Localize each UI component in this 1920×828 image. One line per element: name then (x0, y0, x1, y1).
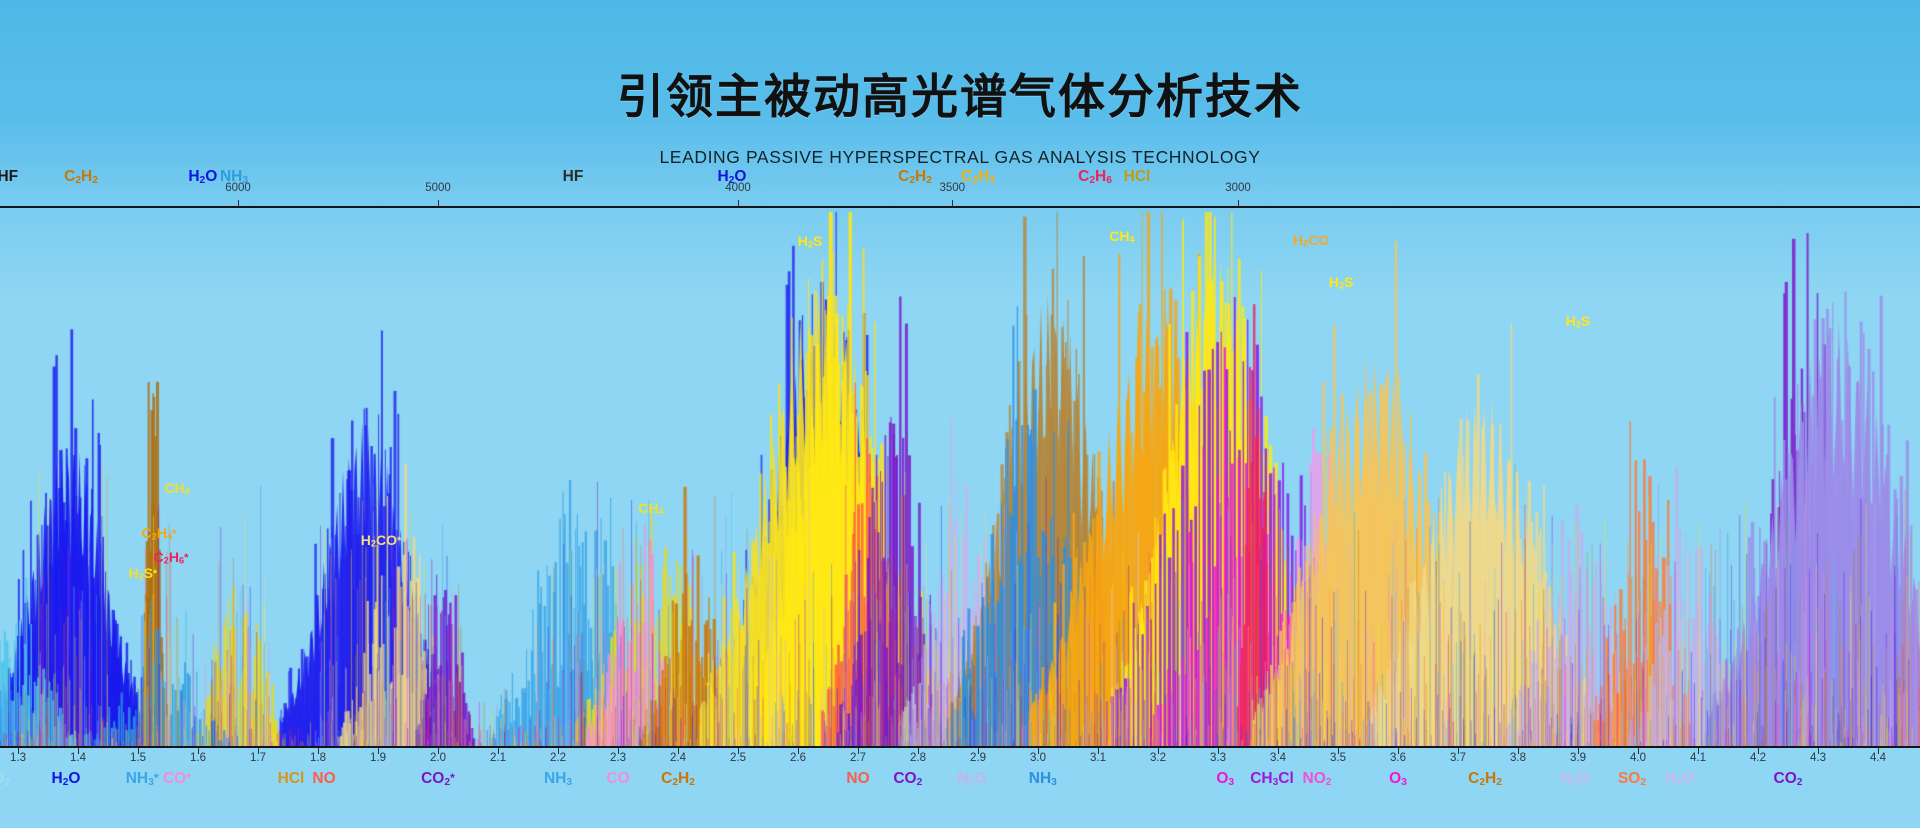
species-label-bottom-co: CO (606, 770, 629, 788)
bottom-tick-label: 3.2 (1150, 752, 1166, 764)
bottom-tick-label: 1.9 (370, 752, 386, 764)
bottom-tick-label: 4.4 (1870, 752, 1886, 764)
species-label-bottom-co2: CO2* (421, 770, 455, 788)
bottom-tick-label: 4.1 (1690, 752, 1706, 764)
top-tick-label: 3500 (939, 182, 965, 194)
species-label-bottom-n2o: N2O (1561, 770, 1590, 788)
species-label-bottom-n2o: N2O (1666, 770, 1695, 788)
species-label-bottom-no2: NO2 (1303, 770, 1332, 788)
bottom-tick-label: 2.7 (850, 752, 866, 764)
top-tick (1238, 200, 1239, 207)
species-label-bottom-o2: O2 (0, 770, 10, 788)
species-label-bottom-o3: O3 (1216, 770, 1234, 788)
bottom-tick-label: 3.8 (1510, 752, 1526, 764)
bottom-tick-label: 3.3 (1210, 752, 1226, 764)
bottom-tick-label: 3.4 (1270, 752, 1286, 764)
top-tick (738, 200, 739, 207)
bottom-tick-label: 3.7 (1450, 752, 1466, 764)
bottom-species-labels: O2H2ONH3*CO*HClNOCO2*NH3COC2H2NOCO2N2ONH… (0, 770, 1920, 798)
bottom-tick-label: 2.9 (970, 752, 986, 764)
top-tick-labels: 60005000400035003000 (0, 182, 1920, 196)
species-label-bottom-co: CO* (163, 770, 191, 788)
bottom-tick-label: 2.4 (670, 752, 686, 764)
bottom-tick-label: 1.3 (10, 752, 26, 764)
species-label-bottom-nh3: NH3 (544, 770, 572, 788)
spectrum-chart: CH4C2H4*C2H6*H2S*H2CO*CH4H2SCH4H2COH2SH2… (0, 200, 1920, 755)
species-label-bottom-no: NO (312, 770, 335, 788)
species-label-bottom-c2h2: C2H2 (1468, 770, 1502, 788)
species-label-bottom-co2: CO2 (893, 770, 922, 788)
top-tick (952, 200, 953, 207)
bottom-tick-label: 2.5 (730, 752, 746, 764)
bottom-tick-label: 1.7 (250, 752, 266, 764)
bottom-tick-label: 2.3 (610, 752, 626, 764)
species-label-bottom-nh3: NH3* (126, 770, 159, 788)
species-label-bottom-h2o: H2O (52, 770, 81, 788)
bottom-tick-label: 3.6 (1390, 752, 1406, 764)
top-tick (238, 200, 239, 207)
top-tick-label: 3000 (1225, 182, 1251, 194)
page-subtitle: LEADING PASSIVE HYPERSPECTRAL GAS ANALYS… (659, 147, 1260, 168)
bottom-tick-labels: 1.31.41.51.61.71.81.92.02.12.22.32.42.52… (0, 752, 1920, 768)
species-label-bottom-so2: SO2 (1618, 770, 1646, 788)
species-label-bottom-c2h2: C2H2 (661, 770, 695, 788)
bottom-tick-label: 2.0 (430, 752, 446, 764)
bottom-tick-label: 2.2 (550, 752, 566, 764)
bottom-tick-label: 4.2 (1750, 752, 1766, 764)
spectrum-canvas (0, 208, 1920, 746)
top-tick-label: 6000 (225, 182, 251, 194)
species-label-bottom-co2: CO2 (1774, 770, 1803, 788)
bottom-tick-label: 3.1 (1090, 752, 1106, 764)
species-label-bottom-o3: O3 (1389, 770, 1407, 788)
bottom-tick-label: 4.3 (1810, 752, 1826, 764)
bottom-tick-label: 2.8 (910, 752, 926, 764)
bottom-tick-label: 4.0 (1630, 752, 1646, 764)
bottom-tick-label: 3.5 (1330, 752, 1346, 764)
species-label-bottom-hcl: HCl (278, 770, 305, 788)
bottom-tick-label: 2.6 (790, 752, 806, 764)
bottom-tick-label: 3.0 (1030, 752, 1046, 764)
bottom-tick-label: 1.8 (310, 752, 326, 764)
bottom-tick-label: 3.9 (1570, 752, 1586, 764)
bottom-tick-label: 1.6 (190, 752, 206, 764)
species-label-bottom-ch3cl: CH3Cl (1250, 770, 1294, 788)
top-tick (438, 200, 439, 207)
bottom-tick-label: 2.1 (490, 752, 506, 764)
top-tick-label: 4000 (725, 182, 751, 194)
poster-root: 引领主被动高光谱气体分析技术 LEADING PASSIVE HYPERSPEC… (0, 0, 1920, 828)
bottom-tick-label: 1.5 (130, 752, 146, 764)
page-title: 引领主被动高光谱气体分析技术 (617, 58, 1303, 127)
species-label-bottom-nh3: NH3 (1029, 770, 1057, 788)
top-tick-marks (0, 200, 1920, 216)
top-tick-label: 5000 (425, 182, 451, 194)
species-label-bottom-n2o: N2O (958, 770, 987, 788)
spectrum-plot-area: CH4C2H4*C2H6*H2S*H2CO*CH4H2SCH4H2COH2SH2… (0, 208, 1920, 746)
species-label-bottom-no: NO (846, 770, 869, 788)
bottom-tick-label: 1.4 (70, 752, 86, 764)
